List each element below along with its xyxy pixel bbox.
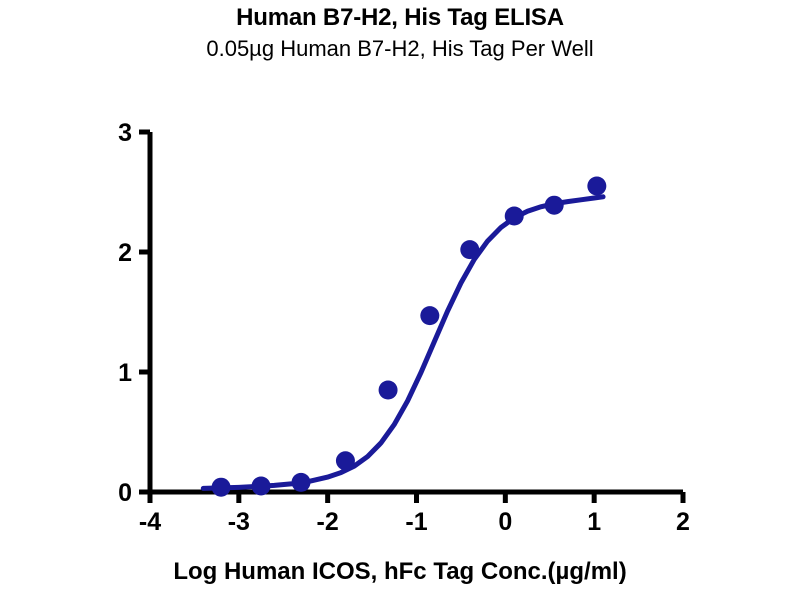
data-point [212,478,231,497]
data-point [587,177,606,196]
x-tick-label: 1 [587,508,601,536]
y-tick-label: 0 [118,479,132,507]
data-point [545,196,564,215]
data-point [336,451,355,470]
x-tick-label: 0 [498,508,512,536]
y-tick-label: 1 [118,359,132,387]
x-tick-label: -4 [139,508,161,536]
y-tick-label: 3 [118,119,132,147]
plot-area: -4-3-2-10120123 [0,0,800,600]
data-point [252,477,271,496]
data-points [212,177,607,497]
x-tick-label: 2 [676,508,690,536]
data-point [460,240,479,259]
x-tick-label: -1 [405,508,427,536]
fit-curve [203,197,603,489]
data-point [505,207,524,226]
series-curve [203,197,603,489]
x-tick-label: -2 [317,508,339,536]
chart-container: Human B7-H2, His Tag ELISA 0.05µg Human … [0,0,800,600]
y-tick-label: 2 [118,239,132,267]
data-point [292,473,311,492]
data-point [379,381,398,400]
data-point [420,306,439,325]
x-tick-label: -3 [228,508,250,536]
